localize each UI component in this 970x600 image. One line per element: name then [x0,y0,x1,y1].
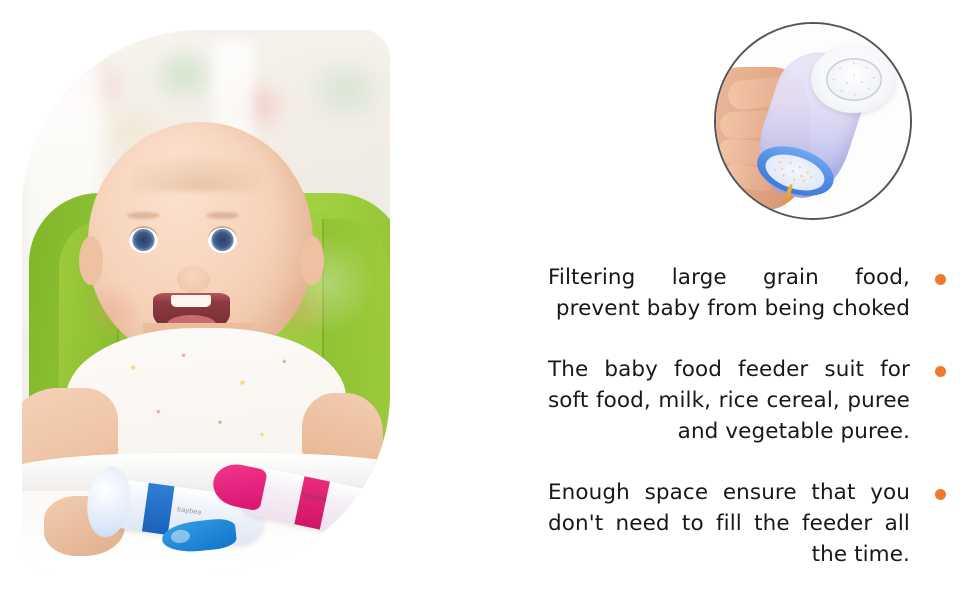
product-closeup-circle [714,22,912,220]
replacement-filter-disc [811,45,896,113]
feature-item-filter-grain: Filtering large grain food, prevent baby… [548,262,946,324]
feature-item-capacity: Enough space ensure that you don't need … [548,477,946,570]
baby-hair [133,158,261,191]
baby-cheek-left [85,279,140,344]
feature-item-food-types: The baby food feeder suit for soft food,… [548,354,946,447]
orange-dot-icon [935,366,946,377]
baby-eye-right [208,228,237,253]
feature-text-food-types: The baby food feeder suit for soft food,… [548,354,910,447]
feature-list: Filtering large grain food, prevent baby… [548,262,946,570]
orange-dot-icon [935,274,946,285]
lifestyle-photo: baybee baybee [22,30,390,572]
baby-eye-left [129,228,158,253]
filter-disc-holes [826,58,882,101]
product-feature-banner: baybee baybee [0,0,970,600]
orange-dot-icon [935,489,946,500]
feature-text-capacity: Enough space ensure that you don't need … [548,477,910,570]
baby-cheek-right [276,279,331,344]
blue-feeder-band [142,483,174,535]
feature-text-filter-grain: Filtering large grain food, prevent baby… [548,262,910,324]
product-closeup-scene [716,24,910,218]
photo-scene: baybee baybee [22,30,390,572]
filter-disc-inner [826,58,882,101]
baby-ear-left [79,236,103,285]
baby-brow-right [206,212,239,219]
baby-nose [177,266,210,293]
baby-teeth [171,295,211,307]
baby-brow-left [127,212,160,219]
baby-ear-right [300,236,324,285]
